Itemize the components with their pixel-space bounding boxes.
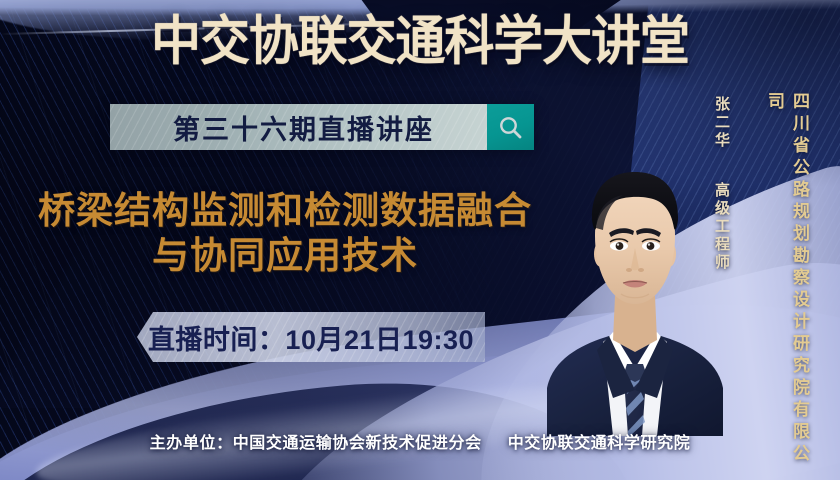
- footer-host-1: 中国交通运输协会新技术促进分会: [233, 435, 482, 452]
- speaker-name: 张二华: [712, 96, 733, 150]
- session-bar: 第三十六期直播讲座: [110, 104, 534, 150]
- search-icon[interactable]: [487, 104, 534, 150]
- speaker-portrait: [535, 136, 735, 436]
- page-title: 中交协联交通科学大讲堂: [25, 15, 815, 68]
- broadcast-time-badge: 直播时间：10月21日19:30: [137, 312, 485, 362]
- lecture-headline: 桥梁结构监测和检测数据融合 与协同应用技术: [20, 188, 550, 278]
- footer-prefix: 主办单位：: [150, 435, 233, 452]
- footer-hosts: 主办单位：中国交通运输协会新技术促进分会中交协联交通科学研究院: [0, 429, 840, 453]
- session-bar-label: 第三十六期直播讲座: [110, 104, 487, 150]
- speaker-organization: 四川省公路规划勘察设计研究院有限公司: [762, 92, 812, 480]
- footer-host-2: 中交协联交通科学研究院: [508, 435, 691, 452]
- speaker-role: 高级工程师: [712, 182, 733, 272]
- headline-line-1: 桥梁结构监测和检测数据融合: [38, 189, 532, 232]
- headline-line-2: 与协同应用技术: [20, 233, 550, 278]
- webinar-poster: 中交协联交通科学大讲堂 第三十六期直播讲座 桥梁结构监测和检测数据融合 与协同应…: [0, 0, 840, 480]
